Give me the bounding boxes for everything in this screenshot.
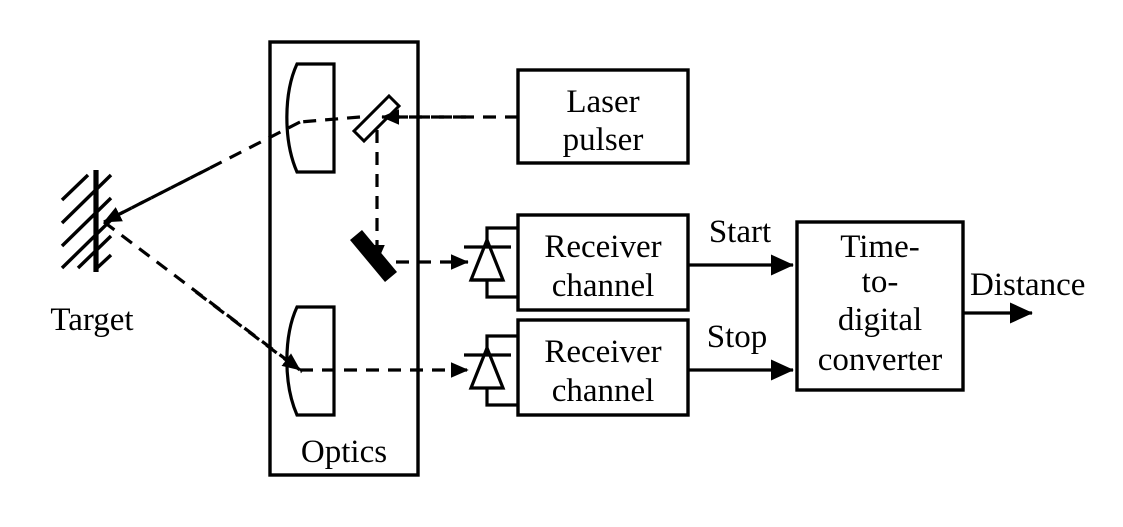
stop-label: Stop: [707, 319, 768, 355]
tdc-label-line4: converter: [818, 342, 943, 378]
rangefinder-block-diagram: Target Optics: [0, 0, 1123, 527]
tdc-label-line3: digital: [838, 302, 922, 338]
tdc-label-line1: Time-: [840, 229, 919, 265]
receiver-stop-label-line1: Receiver: [544, 334, 661, 370]
photodiode-stop-icon: [464, 336, 518, 405]
laser-pulser-label-line1: Laser: [566, 84, 639, 120]
target-label: Target: [50, 302, 133, 338]
receiver-start-label-line2: channel: [552, 268, 655, 304]
diagram-canvas: Target Optics: [0, 0, 1123, 527]
laser-pulser-label-line2: pulser: [563, 122, 644, 158]
receiver-stop-label-line2: channel: [552, 373, 655, 409]
optics-label: Optics: [301, 434, 387, 470]
distance-label: Distance: [970, 267, 1085, 303]
receiver-start-label-line1: Receiver: [544, 229, 661, 265]
photodiode-start-icon: [464, 228, 518, 297]
target-hatching: [62, 175, 111, 268]
optics-enclosure: [270, 42, 418, 475]
start-label: Start: [709, 214, 771, 250]
tdc-label-line2: to-: [862, 264, 899, 300]
